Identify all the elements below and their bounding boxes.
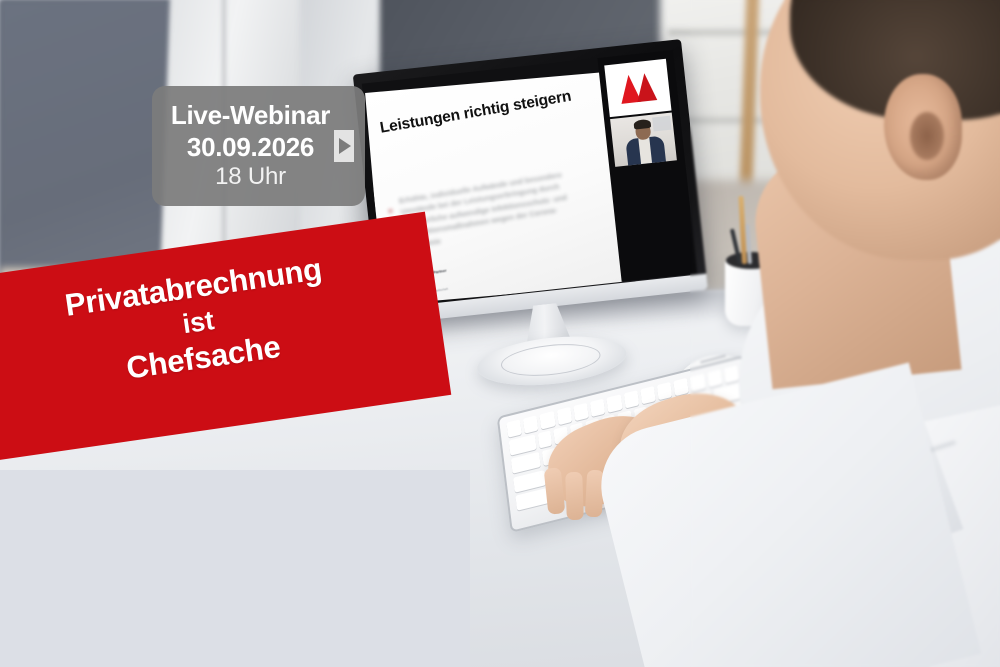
slide-title: Leistungen richtig steigern [379,82,604,137]
webinar-badge[interactable]: Live-Webinar 30.09.2026 18 Uhr [152,86,365,206]
red-banner-text: Privatabrechnung ist Chefsache [0,241,404,404]
play-button[interactable] [334,130,354,162]
participant-hair [633,119,651,130]
square-bullet-icon [388,209,393,214]
bottom-fill-area [0,470,470,667]
call-tile-logo [604,59,671,117]
double-peak-logo-icon [618,72,657,104]
promo-image-canvas: Leistungen richtig steigern Erhöhte, ind… [0,0,1000,667]
participant-background-screen [652,116,671,132]
finger [565,472,584,521]
person-ear-inner [910,112,944,160]
webinar-badge-time: 18 Uhr [215,163,286,192]
webinar-badge-date: 30.09.2026 [187,132,314,162]
webinar-badge-title: Live-Webinar [171,100,330,130]
play-triangle-icon [339,138,351,154]
call-tile-participant[interactable] [610,112,677,166]
